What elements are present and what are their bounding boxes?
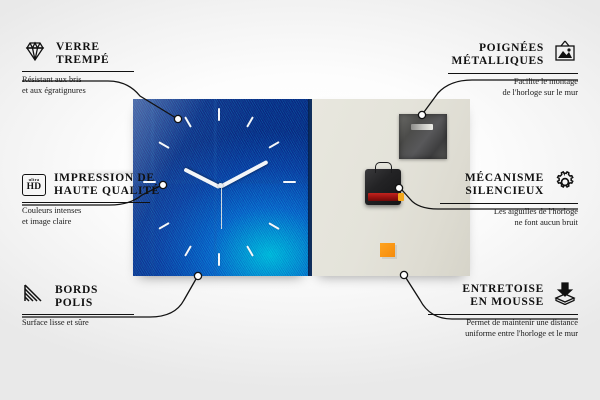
tick-mark (246, 245, 254, 256)
hanging-frame-icon (552, 40, 578, 69)
metal-hanging-plate (399, 114, 447, 159)
movement-hanging-loop (375, 162, 392, 173)
battery (368, 193, 398, 201)
clock-hour-hand (183, 167, 221, 189)
callout-impression-haute-qualite[interactable]: ultra HD IMPRESSION DE HAUTE QUALITÉ Cou… (22, 172, 167, 227)
callout-title: MÉCANISME SILENCIEUX (465, 172, 544, 198)
callout-verre-trempe[interactable]: VERRE TREMPÉ Résistant aux bris et aux é… (22, 40, 152, 96)
diamond-icon (22, 40, 48, 67)
callout-divider (22, 71, 134, 72)
tick-mark (184, 245, 192, 256)
callout-description: Surface lisse et sûre (22, 318, 152, 328)
clock-minute-hand (219, 160, 269, 189)
quartz-movement-box (365, 169, 401, 205)
tick-mark (283, 181, 296, 183)
battery-plus-terminal (398, 193, 404, 201)
gear-icon (552, 170, 578, 199)
callout-title: IMPRESSION DE HAUTE QUALITÉ (54, 172, 160, 198)
hanger-slot (411, 124, 433, 130)
callout-title: BORDS POLIS (55, 284, 98, 310)
tick-mark (184, 116, 192, 127)
tick-mark (158, 141, 169, 149)
callout-divider (22, 202, 150, 203)
tick-mark (268, 141, 279, 149)
product-image (133, 99, 470, 276)
callout-divider (448, 73, 578, 74)
callout-description: Résistant aux bris et aux égratignures (22, 75, 152, 96)
callout-poignees-metalliques[interactable]: POIGNÉES MÉTALLIQUES Facilite le montage… (448, 40, 578, 98)
tick-mark (218, 253, 220, 266)
tick-mark (246, 116, 254, 127)
clock-center-cap (218, 183, 223, 188)
infographic-canvas: VERRE TREMPÉ Résistant aux bris et aux é… (0, 0, 600, 400)
tick-mark (218, 108, 220, 121)
callout-description: Les aiguilles de l'horloge ne font aucun… (440, 207, 578, 228)
polished-edge-icon (22, 283, 47, 310)
ultra-hd-badge-icon: ultra HD (22, 174, 46, 196)
callout-title: VERRE TREMPÉ (56, 41, 109, 67)
callout-divider (440, 203, 578, 204)
callout-bords-polis[interactable]: BORDS POLIS Surface lisse et sûre (22, 283, 152, 329)
callout-description: Facilite le montage de l'horloge sur le … (448, 77, 578, 98)
foam-spacer (380, 243, 395, 257)
foam-spacer-icon (552, 281, 578, 310)
callout-title: POIGNÉES MÉTALLIQUES (452, 42, 544, 68)
callout-description: Permet de maintenir une distance uniform… (428, 318, 578, 339)
callout-divider (428, 314, 578, 315)
clock-second-hand (221, 185, 222, 229)
callout-description: Couleurs intenses et image claire (22, 206, 167, 227)
callout-title: ENTRETOISE EN MOUSSE (462, 283, 544, 309)
callout-entretoise-en-mousse[interactable]: ENTRETOISE EN MOUSSE Permet de maintenir… (428, 281, 578, 339)
tick-mark (268, 222, 279, 230)
callout-divider (22, 314, 134, 315)
callout-mecanisme-silencieux[interactable]: MÉCANISME SILENCIEUX Les aiguilles de l'… (440, 170, 578, 228)
